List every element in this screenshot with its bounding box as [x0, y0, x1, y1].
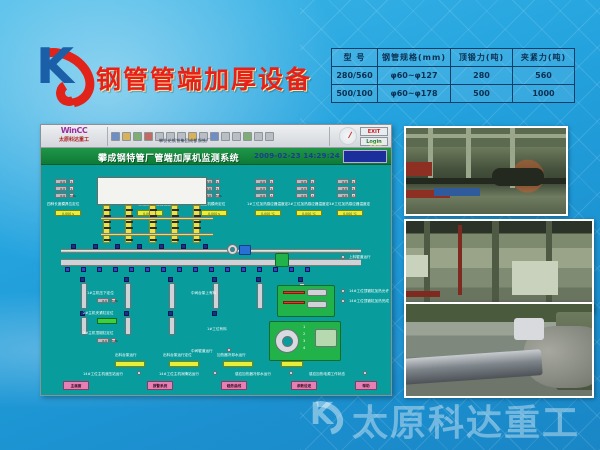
- hydraulic-cylinder: [169, 317, 175, 335]
- roller-drive[interactable]: [97, 267, 102, 272]
- help-icon[interactable]: [265, 132, 274, 141]
- readout-unit: S: [269, 179, 274, 184]
- field[interactable]: [169, 361, 199, 367]
- machine-value: 0.0: [97, 298, 109, 303]
- table-row: 280/560 φ60~φ127 280 560: [332, 67, 575, 85]
- readout-value: 0.0: [55, 179, 67, 184]
- cell-pipe-spec: φ60~φ127: [378, 67, 451, 85]
- status-lamp: [363, 371, 367, 375]
- hmi-system-title: 攀成钢特管厂管端加厚机监测系统: [98, 151, 239, 164]
- hydraulic-cylinder: [125, 317, 131, 335]
- cylinder-valve[interactable]: [212, 277, 217, 282]
- machine-label: 2#主机夹紧缸定位: [83, 311, 113, 316]
- wincc-logo: WinCC 太原科达重工: [45, 126, 103, 147]
- new-file-icon[interactable]: [111, 132, 120, 141]
- readout-unit: S: [310, 186, 315, 191]
- settings-icon[interactable]: [254, 132, 263, 141]
- readout-value: 0.0: [55, 193, 67, 198]
- col-header-clamp-force: 夹紧力(吨): [512, 49, 574, 67]
- exit-button[interactable]: EXIT: [360, 127, 388, 136]
- cylinder-valve[interactable]: [298, 277, 303, 282]
- roller-drive[interactable]: [225, 267, 230, 272]
- page-title: 钢管管端加厚设备: [96, 60, 312, 96]
- station-setpoint[interactable]: 0.000 ℃: [255, 210, 281, 216]
- toolbar-separator: [329, 127, 330, 146]
- cell-pipe-spec: φ60~φ178: [378, 85, 451, 103]
- machine-unit: Mm: [111, 298, 116, 303]
- induction-column: [171, 205, 178, 243]
- valve[interactable]: [93, 244, 98, 249]
- status-lamp: [289, 371, 293, 375]
- lower-label: 加热器冷却水运行: [217, 353, 246, 358]
- hmi-datetime: 2009-02-23 14:29:24: [254, 152, 340, 160]
- nav-button-params[interactable]: 参数设定: [291, 381, 317, 390]
- nav-button-help[interactable]: 帮助: [355, 381, 377, 390]
- roller-drive[interactable]: [273, 267, 278, 272]
- machine-tank: [315, 329, 337, 347]
- valve-indicator: [283, 301, 305, 304]
- readout-unit: S: [215, 179, 220, 184]
- roller-drive[interactable]: [193, 267, 198, 272]
- clock-gauge-icon: [339, 127, 357, 145]
- valve[interactable]: [181, 244, 186, 249]
- mid-label: 中间辊道运行: [191, 349, 213, 354]
- field[interactable]: [223, 361, 253, 367]
- readout-value: 0.0: [255, 186, 267, 191]
- station-label: 2#工位加热感应器温度定: [288, 202, 329, 207]
- readout-unit: A: [269, 193, 274, 198]
- readout-value: 0.0: [255, 179, 267, 184]
- photo-workshop-hot-billet: [404, 126, 568, 216]
- photo-pipe-upsetting-closeup: [404, 302, 594, 398]
- hmi-screenshot: WinCC 太原科达重工 攀枝花钢铁集团成都钢铁厂 EXIT Login: [40, 124, 392, 396]
- photo-content: [406, 128, 566, 214]
- nav-button-alarm[interactable]: 报警系统: [147, 381, 173, 390]
- cylinder-valve[interactable]: [256, 277, 261, 282]
- hmi-process-canvas[interactable]: 0.0 S 0.0 S 0.0 Mm 四种长度模具位定位 0.000 s 0.0…: [41, 165, 391, 396]
- machine-label: 1#主机压下定位: [87, 291, 114, 296]
- lower-label: 出料台架运行定位: [163, 353, 192, 358]
- status-lamp: [137, 371, 141, 375]
- readout-unit: A: [310, 193, 315, 198]
- status-lamp-label: 14#工位主机润滑站运行: [159, 372, 199, 377]
- cell-model: 280/560: [332, 67, 378, 85]
- valve[interactable]: [71, 244, 76, 249]
- cell-upset-force: 500: [450, 85, 512, 103]
- roller-drive[interactable]: [209, 267, 214, 272]
- mid-label: 1#工位有料: [207, 327, 227, 332]
- status-lamp: [341, 255, 345, 259]
- machine-label: 3#主机顶锻缸定位: [83, 331, 113, 336]
- station-setpoint[interactable]: 0.000 ℃: [337, 210, 363, 216]
- roller-drive[interactable]: [305, 267, 310, 272]
- open-file-icon[interactable]: [122, 132, 131, 141]
- photo-workshop-hall: [404, 219, 594, 313]
- valve-indicator: [283, 291, 305, 294]
- roller-drive[interactable]: [177, 267, 182, 272]
- cell-clamp-force: 1000: [512, 85, 574, 103]
- valve[interactable]: [203, 244, 208, 249]
- furnace-vessel: [97, 177, 207, 205]
- hydraulic-cylinder: [213, 283, 219, 309]
- hmi-toolbar: WinCC 太原科达重工 攀枝花钢铁集团成都钢铁厂 EXIT Login: [41, 125, 391, 148]
- pump-wheel: [227, 244, 238, 255]
- valve[interactable]: [115, 244, 120, 249]
- flywheel: [275, 329, 299, 353]
- status-lamp: [227, 348, 231, 352]
- station-label: 1#工位加热感应器温度定: [247, 202, 288, 207]
- valve[interactable]: [159, 244, 164, 249]
- readout-unit: S: [215, 186, 220, 191]
- readout-value: 0.0: [296, 193, 308, 198]
- left-group-label: 四种长度模具位定位: [47, 202, 79, 207]
- cylinder-valve[interactable]: [124, 311, 129, 316]
- cylinder-valve[interactable]: [124, 277, 129, 282]
- hydraulic-cylinder: [125, 283, 131, 309]
- cylinder-valve[interactable]: [168, 277, 173, 282]
- status-lamp: [341, 289, 345, 293]
- cell-upset-force: 280: [450, 67, 512, 85]
- readout-value: 0.0: [296, 179, 308, 184]
- hydraulic-cylinder: [81, 283, 87, 309]
- status-lamp-label: 感应加热器冷却水运行: [235, 372, 271, 377]
- cell-model: 500/100: [332, 85, 378, 103]
- right-label: 14#工位顶锻缸加热完成: [349, 299, 389, 304]
- machine-readout[interactable]: [281, 361, 303, 367]
- main-conveyor-pipe: [61, 249, 361, 253]
- induction-column: [103, 205, 110, 243]
- roller-table: [61, 259, 361, 266]
- roller-drive[interactable]: [145, 267, 150, 272]
- valve-body: [307, 301, 327, 308]
- toolbar-separator: [107, 127, 108, 146]
- wincc-company-name: 太原科达重工: [45, 136, 103, 144]
- toolbar-caption: 攀枝花钢铁集团成都钢铁厂: [159, 138, 211, 144]
- bus-bar: [101, 217, 213, 220]
- readout-unit: S: [310, 179, 315, 184]
- run-icon[interactable]: [243, 132, 252, 141]
- readout-value: 0.0: [296, 186, 308, 191]
- readout-value: 0.0: [337, 193, 349, 198]
- status-lamp-label: 14#工位主机液压站运行: [83, 372, 123, 377]
- readout-value: 0.0: [337, 186, 349, 191]
- save-icon[interactable]: [133, 132, 142, 141]
- right-label: 14#工位顶锻缸加热允许: [349, 289, 389, 294]
- induction-column: [125, 205, 132, 243]
- valve-body: [307, 289, 327, 296]
- readout-unit: S: [69, 186, 74, 191]
- table-row: 500/100 φ60~φ178 500 1000: [332, 85, 575, 103]
- right-setpoint-field[interactable]: 0.000 s: [201, 210, 227, 216]
- col-header-model: 型 号: [332, 49, 378, 67]
- machine-scale-label: 4: [303, 346, 305, 351]
- hydraulic-cylinder: [257, 283, 263, 309]
- col-header-pipe-spec: 钢管规格(mm): [378, 49, 451, 67]
- hydraulic-cylinder: [169, 283, 175, 309]
- readout-unit: A: [351, 193, 356, 198]
- nav-button-trend[interactable]: 趋势曲线: [221, 381, 247, 390]
- readout-value: 0.0: [255, 193, 267, 198]
- kd-logo: K: [22, 32, 102, 102]
- toolbar-icon-group[interactable]: [111, 128, 311, 145]
- cylinder-valve[interactable]: [80, 277, 85, 282]
- col-header-upset-force: 顶锻力(吨): [450, 49, 512, 67]
- grid-icon[interactable]: [221, 132, 230, 141]
- logo-letter-k: K: [36, 44, 70, 92]
- readout-unit: Mm: [69, 193, 74, 198]
- valve[interactable]: [137, 244, 142, 249]
- cylinder-valve[interactable]: [168, 311, 173, 316]
- readout-unit: Mm: [215, 193, 220, 198]
- photo-content: [406, 221, 592, 311]
- table-header-row: 型 号 钢管规格(mm) 顶锻力(吨) 夹紧力(吨): [332, 49, 575, 67]
- hmi-title-bar: 攀成钢特管厂管端加厚机监测系统 2009-02-23 14:29:24 登录用户: [41, 148, 391, 165]
- hmi-user-label: 登录用户: [369, 142, 385, 148]
- field[interactable]: [115, 361, 145, 367]
- readout-unit: S: [351, 179, 356, 184]
- roller-drive[interactable]: [81, 267, 86, 272]
- nav-button-main[interactable]: 主画面: [63, 381, 89, 390]
- roller-drive[interactable]: [257, 267, 262, 272]
- roller-drive[interactable]: [129, 267, 134, 272]
- wincc-product-name: WinCC: [45, 126, 103, 136]
- machine-value: 0.0: [97, 338, 109, 343]
- roller-drive[interactable]: [289, 267, 294, 272]
- readout-unit: S: [269, 186, 274, 191]
- print-icon[interactable]: [144, 132, 153, 141]
- roller-drive[interactable]: [161, 267, 166, 272]
- status-lamp-label: 感应加热电源工作状态: [309, 372, 345, 377]
- roller-drive[interactable]: [113, 267, 118, 272]
- machine-scale-label: 2: [303, 332, 305, 337]
- roller-drive[interactable]: [65, 267, 70, 272]
- drive-motor[interactable]: [239, 245, 251, 255]
- station-setpoint[interactable]: 0.000 ℃: [296, 210, 322, 216]
- roller-drive[interactable]: [241, 267, 246, 272]
- readout-value: 0.0: [337, 179, 349, 184]
- status-lamp: [341, 299, 345, 303]
- mid-label: 中间台架上有料: [191, 291, 216, 296]
- cylinder-valve[interactable]: [212, 311, 217, 316]
- machine-unit: Mm: [111, 338, 116, 343]
- mid-label: 出料台架运行: [115, 353, 137, 358]
- cell-clamp-force: 560: [512, 67, 574, 85]
- machine-scale-label: 1: [303, 325, 305, 330]
- induction-column: [149, 205, 156, 243]
- hmi-user-field[interactable]: [343, 150, 387, 163]
- machine-state-field[interactable]: [97, 318, 117, 324]
- bus-bar: [101, 233, 213, 236]
- photo-content: [406, 304, 592, 396]
- station-label: 3#工位加热感应器温度定: [329, 202, 370, 207]
- readout-value: 0.0: [55, 186, 67, 191]
- right-label: 上料辊道运行: [349, 255, 371, 260]
- spec-table: 型 号 钢管规格(mm) 顶锻力(吨) 夹紧力(吨) 280/560 φ60~φ…: [331, 48, 575, 103]
- pump-unit: [275, 253, 289, 267]
- status-lamp: [213, 371, 217, 375]
- left-setpoint-field[interactable]: 0.000 s: [55, 210, 81, 216]
- induction-column: [193, 205, 200, 243]
- machine-scale-label: 3: [303, 339, 305, 344]
- zoom-icon[interactable]: [210, 132, 219, 141]
- layers-icon[interactable]: [232, 132, 241, 141]
- readout-unit: S: [69, 179, 74, 184]
- readout-unit: S: [351, 186, 356, 191]
